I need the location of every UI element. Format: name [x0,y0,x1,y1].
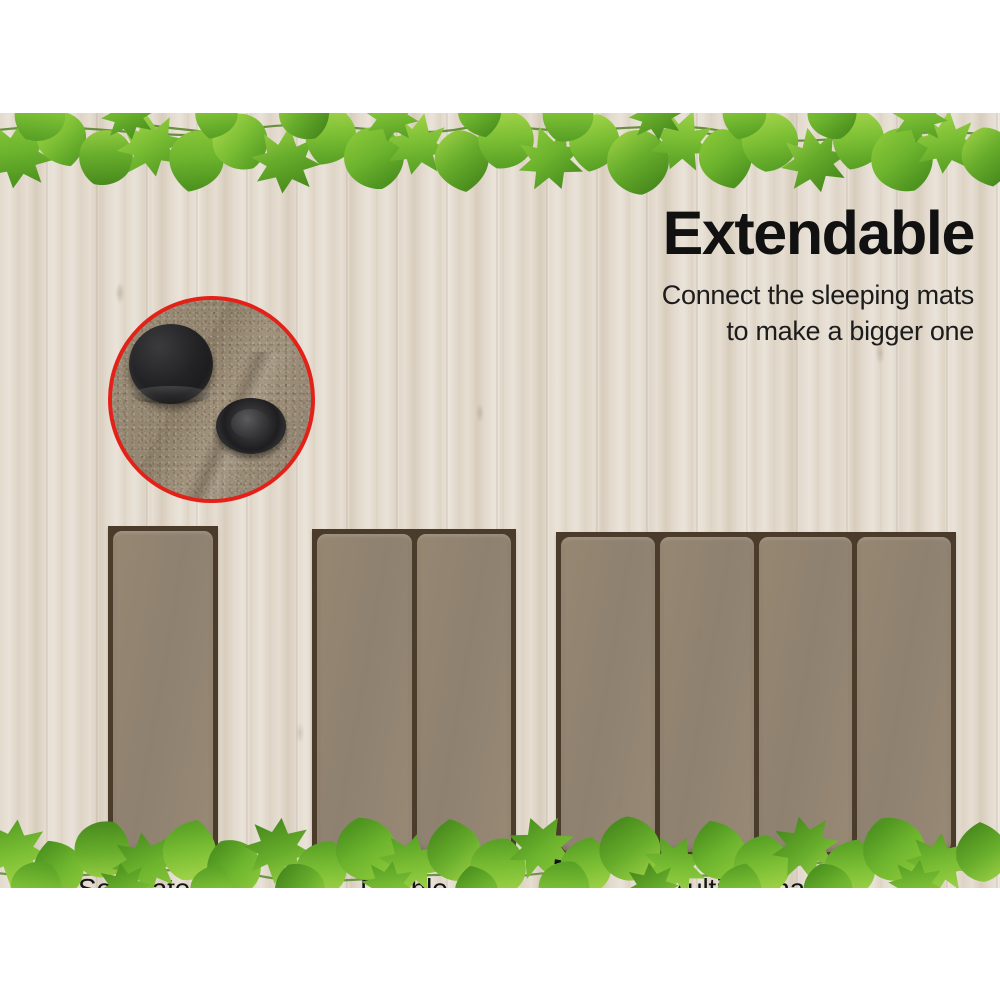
snap-dot [846,850,861,865]
subtitle-line-1: Connect the sleeping mats [662,280,974,310]
mat [759,537,853,852]
product-infographic: Extendable Connect the sleeping mats to … [0,0,1000,1000]
mat-group-double [312,529,516,857]
heading-block: Extendable Connect the sleeping mats to … [544,203,974,349]
mat-group-separate [108,526,218,857]
snap-dot [307,850,322,865]
snap-dot [208,850,223,865]
mat [417,534,512,852]
subtitle: Connect the sleeping mats to make a bigg… [544,278,974,349]
snap-dot [103,850,118,865]
mat [857,537,951,852]
snap-dot [649,850,664,865]
mat-group-multiple [556,532,956,857]
snap-dot [506,850,521,865]
snap-dot [944,850,959,865]
caption-double: Double [360,873,448,888]
mat [561,537,655,852]
snap-dot [551,850,566,865]
mat [113,531,213,852]
snap-dot [747,850,762,865]
snap-socket-icon [216,398,286,454]
snap-fastener-closeup [108,296,315,503]
caption-separate-use: Separate use [78,873,242,888]
snap-cap-icon [129,324,213,404]
caption-multiple-mats: Multiple mats [664,873,826,888]
wood-background-panel: Extendable Connect the sleeping mats to … [0,113,1000,888]
page-title: Extendable [544,203,974,264]
mat [660,537,754,852]
snap-dot [406,850,421,865]
subtitle-line-2: to make a bigger one [726,316,974,346]
mat [317,534,412,852]
